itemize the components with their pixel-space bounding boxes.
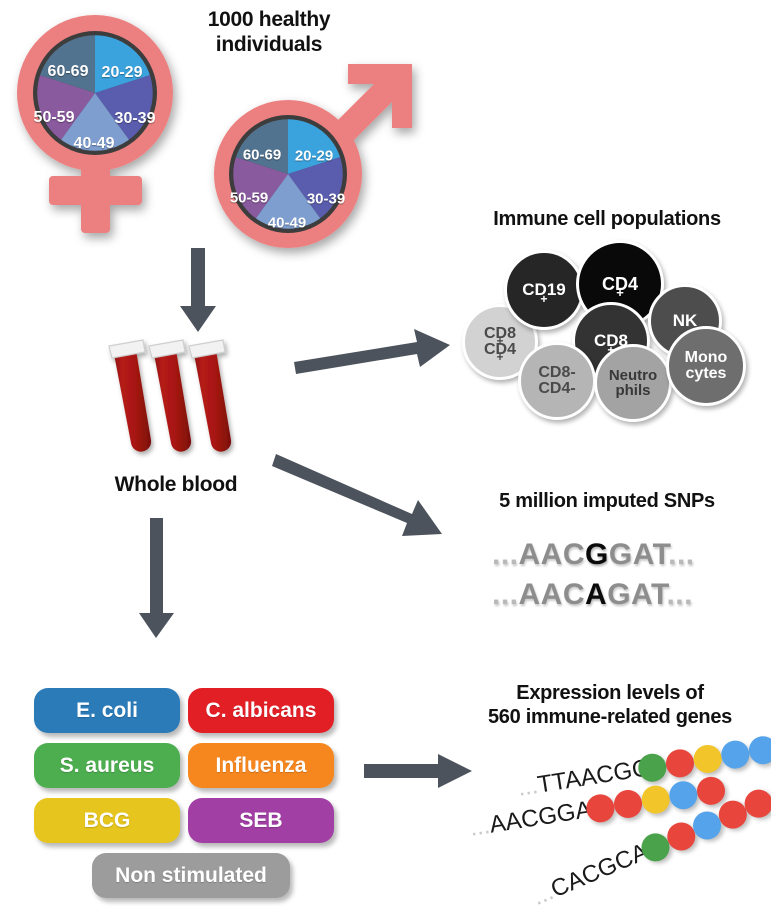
figure-canvas: 1000 healthy individuals [0,0,771,922]
expression-bead [719,739,751,771]
immune-cell-cluster: CD8+ CD4+ CD19+ CD4+ CD8+ NK CD8- CD4- N… [462,240,762,415]
blood-tube [189,340,231,452]
arrow-cohort-to-blood [178,248,220,334]
expression-bead [612,788,644,820]
stimulus-seb[interactable]: SEB [188,798,334,843]
expression-bead [667,779,699,811]
stimulus-influenza[interactable]: Influenza [188,743,334,788]
cell-label-line1: Mono [685,350,728,366]
snp-prefix: ... [492,578,519,611]
expression-bead [747,734,771,766]
snp-sequence-row: ...AACAGAT... [492,578,693,612]
expression-heading: Expression levels of 560 immune-related … [452,682,768,729]
expression-heading-line1: Expression levels of [452,682,768,706]
stimulus-label: Non stimulated [115,864,267,888]
stimulus-label: E. coli [76,699,138,723]
stimulus-label: Influenza [215,754,306,778]
blood-tube [149,340,191,452]
cohort-heading-line2: individuals [176,33,362,58]
snp-sequence-row: ...AACGGAT... [492,538,695,572]
blood-tube [109,340,151,452]
stimulus-bcg[interactable]: BCG [34,798,180,843]
stimulus-c-albicans[interactable]: C. albicans [188,688,334,733]
immune-cell-monocytes: Mono cytes [666,326,746,406]
arrow-stimuli-to-expression [364,752,474,794]
arrow-blood-to-snps [274,446,446,544]
cell-label-line1: Neutro [609,368,657,383]
snps-heading: 5 million imputed SNPs [452,490,762,514]
stimulus-non-stimulated[interactable]: Non stimulated [92,853,290,898]
blood-tubes [106,336,246,461]
strand-sequence: ...AACGGAT [468,794,606,843]
immune-cell-neutrophils: Neutro phils [594,344,672,422]
cell-label-line2: CD4+ [484,342,516,358]
snp-left: AAC [519,578,586,611]
snp-right: GAT [607,578,666,611]
snp-right: GAT [609,538,668,571]
snp-variant: G [585,538,609,571]
snp-suffix: ... [668,538,695,571]
immune-cells-heading: Immune cell populations [452,208,762,232]
immune-cell-cd19pos: CD19+ [504,250,584,330]
stimulus-label: S. aureus [60,754,155,778]
snp-suffix: ... [666,578,693,611]
stimulus-label: BCG [84,809,131,833]
cell-label: CD19+ [522,281,565,298]
male-gender-symbol: 20-29 30-39 40-49 50-59 60-69 [196,58,426,253]
stimulus-label: C. albicans [206,699,317,723]
cell-label-line2: phils [615,383,650,398]
arrow-blood-to-immune-cells [292,326,452,376]
cell-label-line1: CD8+ [484,326,516,342]
cell-label: CD4+ [602,275,638,293]
female-gender-symbol: 20-29 30-39 40-49 50-59 60-69 [6,8,196,243]
female-age-pie [36,34,154,152]
arrow-blood-to-stimuli [136,518,178,640]
stimulus-s-aureus[interactable]: S. aureus [34,743,180,788]
expression-bead [664,747,696,779]
cell-label-line1: CD8- [538,365,575,381]
cell-label-line2: CD4- [538,381,575,397]
cell-label-line2: cytes [686,366,727,382]
stimulus-label: SEB [239,809,282,833]
cohort-heading: 1000 healthy individuals [176,8,362,58]
stimulus-e-coli[interactable]: E. coli [34,688,180,733]
male-age-pie [232,118,344,230]
whole-blood-label: Whole blood [78,473,274,498]
expression-bead [640,784,672,816]
expression-bead [692,743,724,775]
immune-cell-cd8neg-cd4neg: CD8- CD4- [518,342,596,420]
snp-prefix: ... [492,538,519,571]
snp-left: AAC [519,538,586,571]
expression-heading-line2: 560 immune-related genes [452,706,768,730]
cohort-heading-line1: 1000 healthy [176,8,362,33]
snp-variant: A [585,578,607,611]
